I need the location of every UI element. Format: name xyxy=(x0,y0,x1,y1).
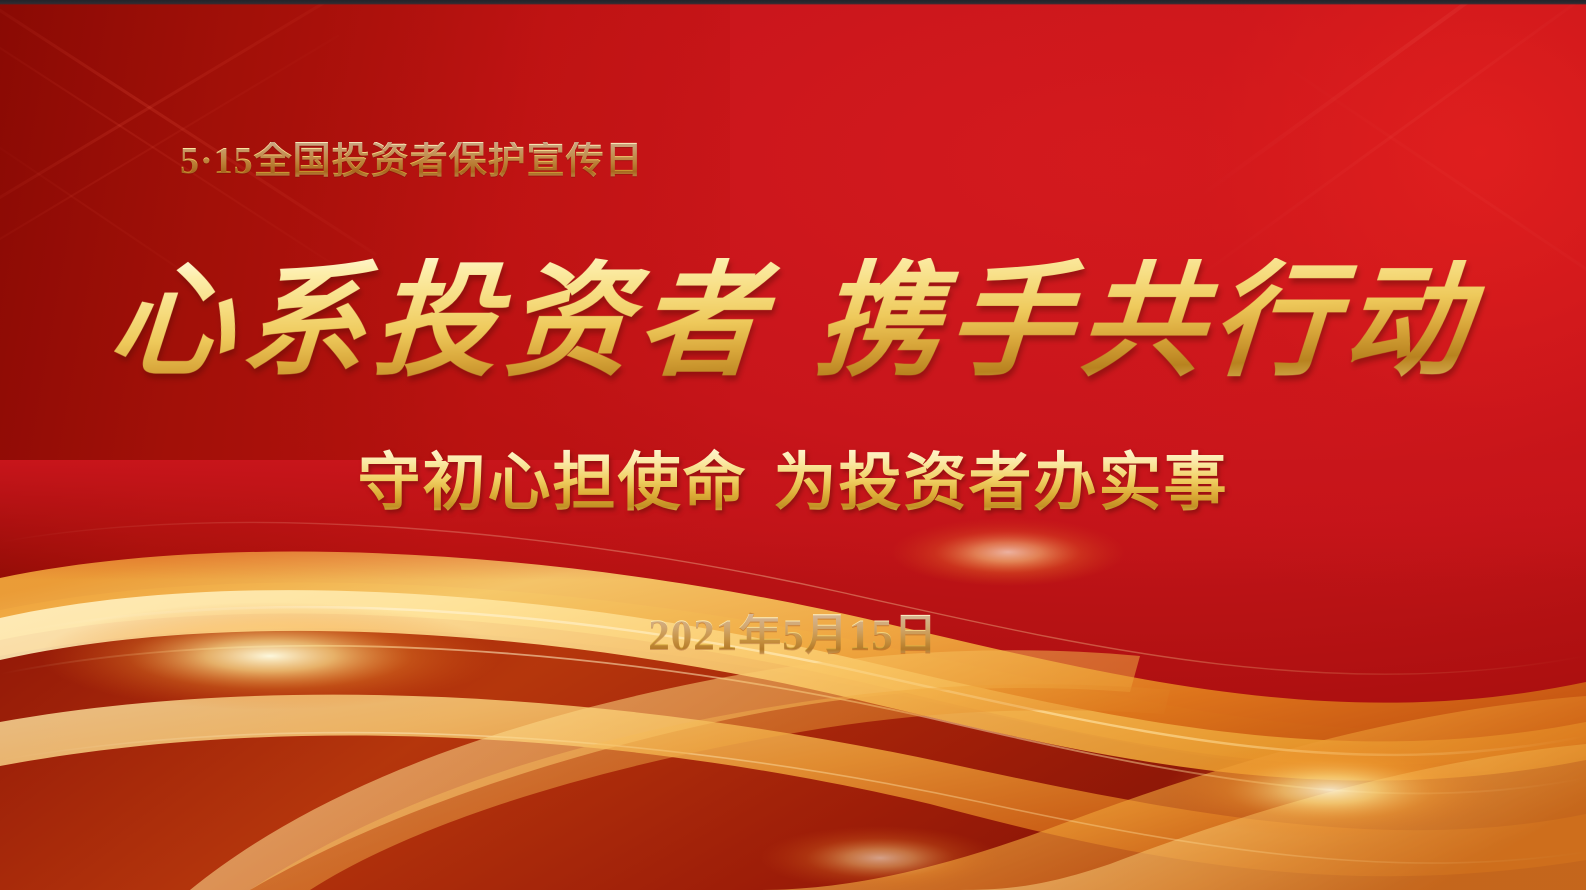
subtitle-part-2: 为投资者办实事 xyxy=(774,448,1229,518)
event-date: 2021年5月15日 xyxy=(0,614,1586,657)
poster-headline: 心系投资者携手共行动 xyxy=(0,258,1586,388)
poster-canvas: 5·15全国投资者保护宣传日 心系投资者携手共行动 守初心担使命为投资者办实事 … xyxy=(0,0,1586,890)
headline-part-1: 心系投资者 xyxy=(105,254,775,391)
poster-content: 5·15全国投资者保护宣传日 心系投资者携手共行动 守初心担使命为投资者办实事 … xyxy=(0,0,1586,890)
headline-part-2: 携手共行动 xyxy=(811,254,1481,391)
subtitle-part-1: 守初心担使命 xyxy=(358,448,748,518)
event-kicker: 5·15全国投资者保护宣传日 xyxy=(180,142,644,180)
poster-subtitle: 守初心担使命为投资者办实事 xyxy=(0,446,1586,520)
